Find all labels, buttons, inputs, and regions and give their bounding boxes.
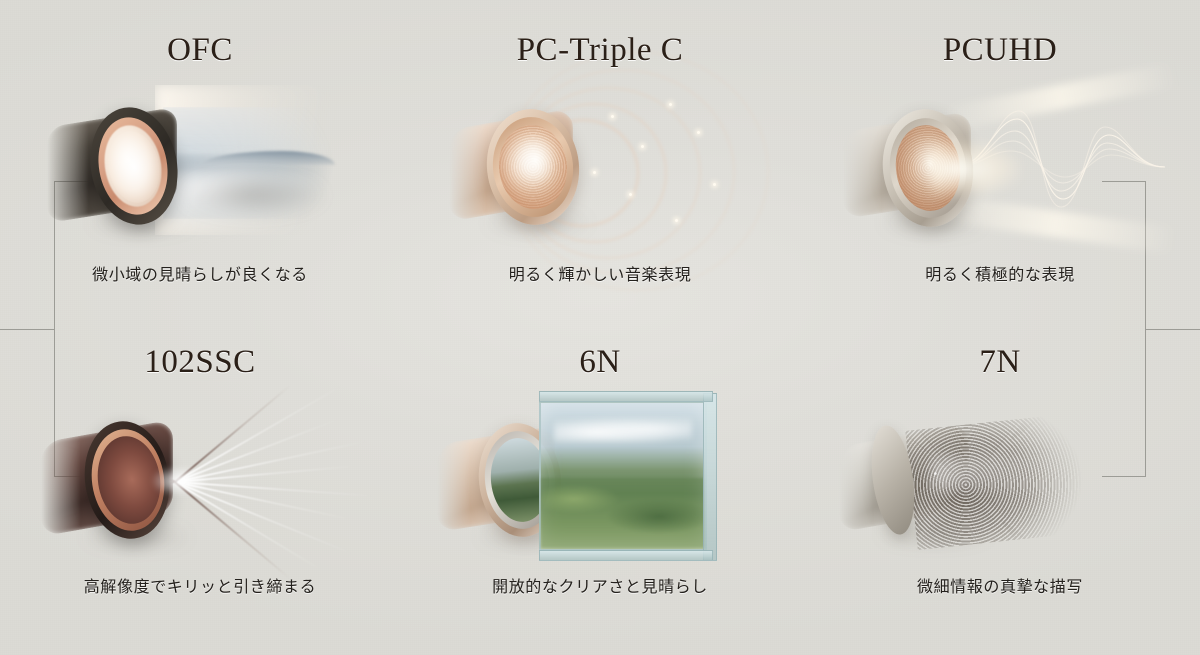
cable-102ssc-illustration — [35, 391, 365, 559]
ptc-spark — [593, 171, 596, 174]
cable-7n-illustration — [835, 391, 1165, 559]
ptc-spark — [713, 183, 716, 186]
conductor-caption-ofc: 微小域の見晴らしが良くなる — [92, 261, 308, 285]
ptc-spark — [629, 193, 632, 196]
conductor-card-102ssc[interactable]: 102SSC — [0, 328, 400, 655]
ssc-center-flash — [153, 467, 207, 495]
conductor-caption-102ssc: 高解像度でキリッと引き締まる — [84, 573, 316, 597]
comparison-poster: OFC 微小域の見晴らしが良くなる PC-Triple C — [0, 0, 1200, 655]
ssc-ray — [175, 481, 291, 579]
ptc-core-flare — [501, 131, 557, 191]
conductor-caption-pcuhd: 明るく積極的な表現 — [925, 261, 1074, 285]
conductor-title-pc-triple-c: PC-Triple C — [517, 34, 684, 67]
sevn-sheen-highlight — [931, 457, 1071, 491]
conductor-caption-7n: 微細情報の真摯な描写 — [917, 573, 1083, 597]
conductor-grid: OFC 微小域の見晴らしが良くなる PC-Triple C — [0, 0, 1200, 655]
cable-pcuhd-illustration — [835, 79, 1165, 247]
cable-6n-illustration — [435, 391, 765, 559]
conductor-caption-pc-triple-c: 明るく輝かしい音楽表現 — [509, 261, 692, 285]
pcu-core-burst — [931, 141, 1021, 197]
sixn-glass-bottom-edge — [539, 550, 713, 561]
ofc-mist-shadow — [185, 171, 375, 219]
conductor-card-7n[interactable]: 7N 微細情報の真摯な描写 — [800, 328, 1200, 655]
sixn-glass-right-edge — [703, 393, 717, 561]
conductor-title-ofc: OFC — [167, 34, 233, 67]
ptc-spark — [697, 131, 700, 134]
conductor-card-pc-triple-c[interactable]: PC-Triple C — [400, 0, 800, 328]
conductor-title-6n: 6N — [579, 346, 620, 379]
conductor-card-ofc[interactable]: OFC 微小域の見晴らしが良くなる — [0, 0, 400, 328]
conductor-title-102ssc: 102SSC — [144, 346, 255, 379]
ptc-spark — [669, 103, 672, 106]
ptc-spark — [611, 115, 614, 118]
cable-ofc-illustration — [35, 79, 365, 247]
sixn-glass-top-edge — [539, 391, 713, 402]
sixn-fields — [541, 478, 705, 548]
conductor-title-pcuhd: PCUHD — [943, 34, 1057, 67]
sixn-clouds — [554, 417, 692, 443]
cable-pc-triple-c-illustration — [435, 79, 765, 247]
conductor-title-7n: 7N — [979, 346, 1020, 379]
sixn-glass-landscape — [539, 401, 707, 551]
conductor-card-6n[interactable]: 6N 開放的なクリアさと見晴らし — [400, 328, 800, 655]
conductor-card-pcuhd[interactable]: PCUHD — [800, 0, 1200, 328]
sixn-glass-box — [539, 401, 707, 551]
ptc-spark — [641, 145, 644, 148]
ptc-spark — [675, 219, 678, 222]
conductor-caption-6n: 開放的なクリアさと見晴らし — [492, 573, 708, 597]
